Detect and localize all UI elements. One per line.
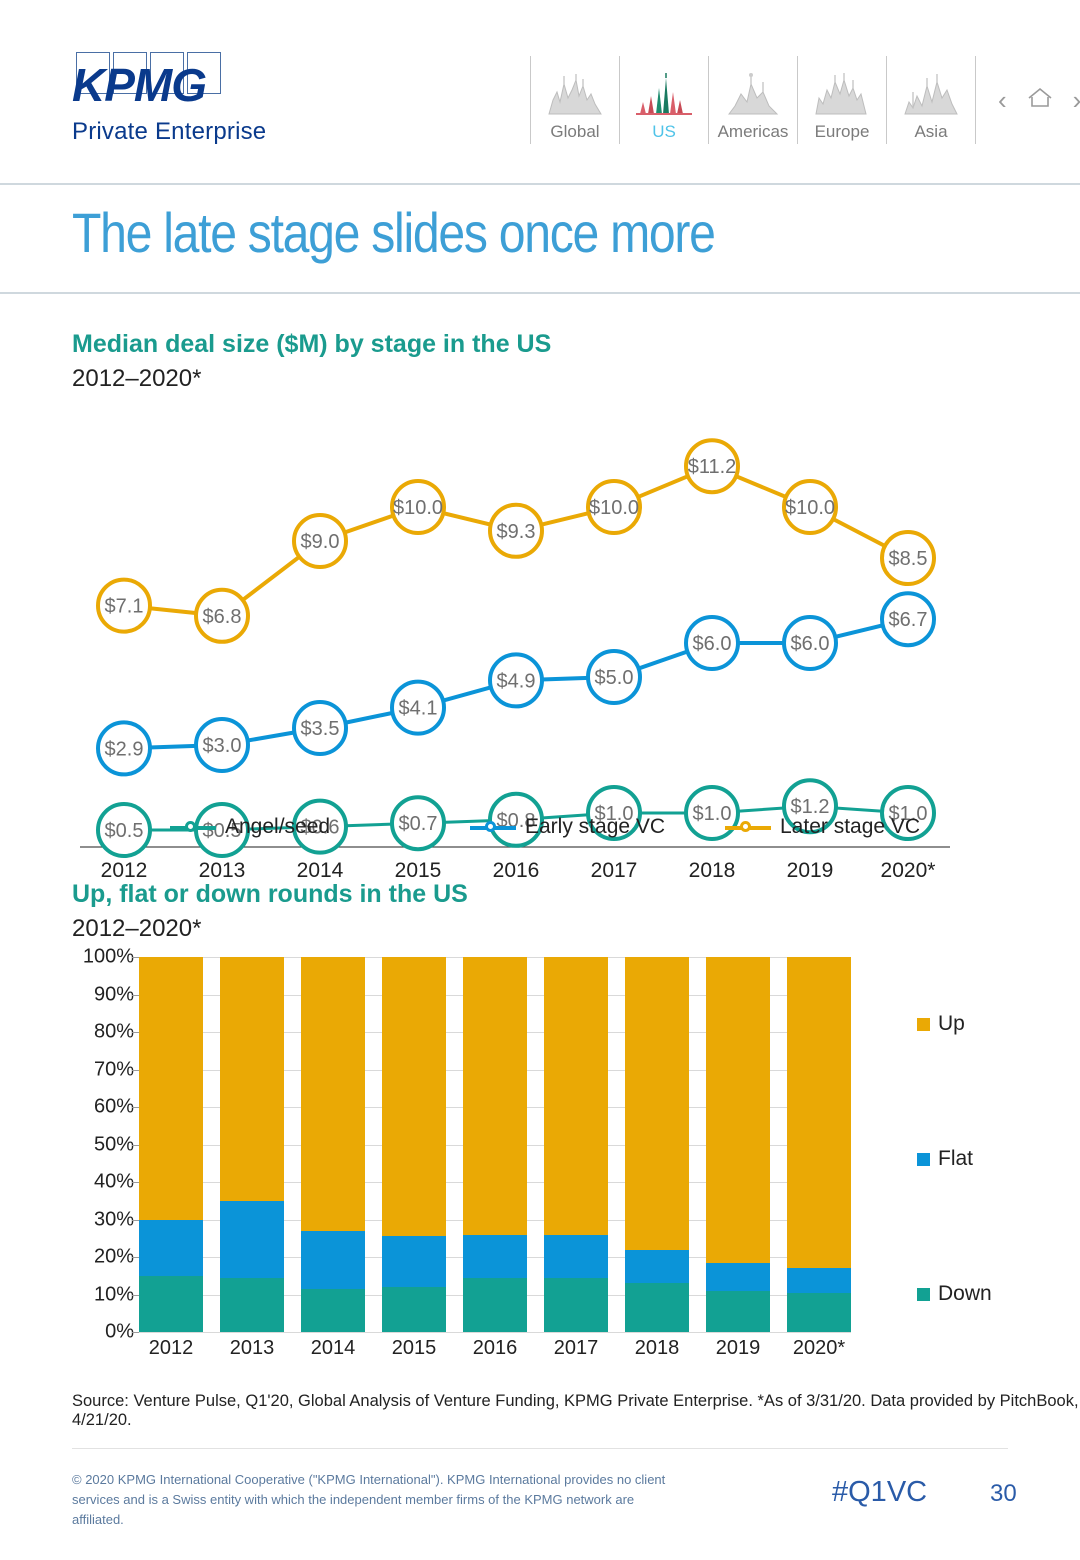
y-axis-tick-label: 10%	[94, 1283, 134, 1306]
nav-item-global[interactable]: Global	[531, 56, 619, 144]
legend-item-early-stage[interactable]: Early stage VC	[470, 815, 725, 839]
copyright-text: © 2020 KPMG International Cooperative ("…	[72, 1470, 672, 1530]
data-point-label: $10.0	[393, 497, 443, 519]
stacked-bar[interactable]	[544, 957, 608, 1332]
page-title: The late stage slides once more	[72, 200, 715, 265]
x-axis-tick-label: 2020*	[787, 1337, 851, 1360]
bar-segment-up	[544, 957, 608, 1235]
legend-item-up[interactable]: Up	[917, 1012, 965, 1036]
footer-divider	[72, 1448, 1008, 1449]
bar-segment-down	[544, 1278, 608, 1332]
hashtag-label: #Q1VC	[832, 1476, 927, 1509]
x-axis-tick-label: 2019	[706, 1337, 770, 1360]
x-axis-tick-label: 2013	[220, 1337, 284, 1360]
nav-item-us[interactable]: US	[620, 56, 708, 144]
y-axis-tick-label: 20%	[94, 1246, 134, 1269]
x-axis-tick-label: 2012	[101, 859, 148, 879]
legend-marker-later-stage	[725, 818, 771, 836]
stacked-bar[interactable]	[139, 957, 203, 1332]
y-axis-tick	[132, 1070, 139, 1071]
data-point-label: $9.0	[301, 531, 340, 553]
y-axis-tick-label: 50%	[94, 1133, 134, 1156]
bar-segment-flat	[301, 1231, 365, 1289]
y-axis-tick-label: 60%	[94, 1096, 134, 1119]
x-axis-tick-label: 2017	[544, 1337, 608, 1360]
data-point-label: $9.3	[497, 521, 536, 543]
legend-swatch-down	[917, 1288, 930, 1301]
x-axis-tick-label: 2016	[493, 859, 540, 879]
gridline	[139, 1332, 851, 1333]
legend-label-down: Down	[938, 1282, 992, 1306]
legend-item-flat[interactable]: Flat	[917, 1147, 973, 1171]
line-chart-section: Median deal size ($M) by stage in the US…	[72, 330, 1012, 879]
y-axis-tick-label: 90%	[94, 983, 134, 1006]
bar-segment-flat	[787, 1268, 851, 1292]
skyline-us-icon	[632, 66, 696, 116]
chevron-right-icon[interactable]: ›	[1073, 87, 1080, 113]
data-point-label: $6.7	[889, 609, 928, 631]
y-axis-tick-label: 100%	[83, 946, 134, 969]
nav-arrow-group: ‹ ›	[998, 56, 1080, 144]
nav-divider	[975, 56, 976, 144]
legend-item-down[interactable]: Down	[917, 1282, 992, 1306]
bar-segment-up	[139, 957, 203, 1220]
legend-item-later-stage[interactable]: Later stage VC	[725, 815, 920, 839]
page-header: KPMG Private Enterprise Global	[0, 0, 1080, 183]
x-axis-tick-label: 2014	[301, 1337, 365, 1360]
legend-item-angel-seed[interactable]: Angel/seed	[170, 815, 470, 839]
data-point-label: $6.8	[203, 606, 242, 628]
region-nav: Global US	[530, 56, 1080, 144]
bar-segment-flat	[220, 1201, 284, 1278]
y-axis-tick	[132, 995, 139, 996]
title-divider	[0, 292, 1080, 294]
data-point-label: $3.5	[301, 718, 340, 740]
bar-segment-down	[382, 1287, 446, 1332]
stacked-bar[interactable]	[463, 957, 527, 1332]
nav-item-americas[interactable]: Americas	[709, 56, 797, 144]
legend-label-early-stage: Early stage VC	[525, 815, 665, 839]
data-point-label: $5.0	[595, 667, 634, 689]
bar-segment-flat	[139, 1220, 203, 1276]
x-axis-tick-label: 2019	[787, 859, 834, 879]
y-axis-tick	[132, 1145, 139, 1146]
x-axis-tick-label: 2015	[395, 859, 442, 879]
x-axis-tick-label: 2018	[625, 1337, 689, 1360]
bar-chart-x-axis: 201220132014201520162017201820192020*	[139, 1337, 851, 1360]
bar-segment-down	[787, 1293, 851, 1332]
bar-chart-subtitle: 2012–2020*	[72, 915, 1012, 943]
legend-label-up: Up	[938, 1012, 965, 1036]
data-point-label: $7.1	[105, 596, 144, 618]
skyline-asia-icon	[899, 66, 963, 116]
stacked-bar[interactable]	[220, 957, 284, 1332]
legend-swatch-flat	[917, 1153, 930, 1166]
source-note: Source: Venture Pulse, Q1'20, Global Ana…	[72, 1392, 1080, 1430]
bar-chart-y-axis: 0%10%20%30%40%50%60%70%80%90%100%	[72, 957, 134, 1332]
y-axis-tick	[132, 1220, 139, 1221]
bar-segment-up	[706, 957, 770, 1263]
line-chart-title: Median deal size ($M) by stage in the US	[72, 330, 1012, 359]
home-icon[interactable]	[1025, 85, 1055, 115]
data-point-label: $0.5	[105, 820, 144, 842]
bar-segment-flat	[382, 1236, 446, 1287]
line-chart-plot: $0.5$0.5$0.6$0.7$0.8$1.0$1.0$1.2$1.0$2.9…	[72, 409, 1012, 879]
skyline-americas-icon	[721, 66, 785, 116]
x-axis-tick-label: 2012	[139, 1337, 203, 1360]
bar-segment-up	[382, 957, 446, 1236]
x-axis-tick-label: 2016	[463, 1337, 527, 1360]
data-point-label: $6.0	[693, 633, 732, 655]
nav-label-us: US	[652, 122, 676, 142]
bar-segment-down	[706, 1291, 770, 1332]
chevron-left-icon[interactable]: ‹	[998, 87, 1007, 113]
y-axis-tick	[132, 957, 139, 958]
data-point-label: $10.0	[785, 497, 835, 519]
y-axis-tick	[132, 1332, 139, 1333]
bar-segment-down	[220, 1278, 284, 1332]
y-axis-tick-label: 40%	[94, 1171, 134, 1194]
data-point-label: $8.5	[889, 548, 928, 570]
legend-swatch-up	[917, 1018, 930, 1031]
stacked-bar[interactable]	[301, 957, 365, 1332]
bar-chart-bars	[139, 957, 851, 1332]
nav-label-asia: Asia	[914, 122, 947, 142]
legend-marker-early-stage	[470, 818, 516, 836]
bar-segment-down	[139, 1276, 203, 1332]
bar-segment-flat	[706, 1263, 770, 1291]
bar-segment-up	[463, 957, 527, 1235]
bar-chart-legend: Up Flat Down	[917, 957, 1077, 1332]
y-axis-tick-label: 30%	[94, 1208, 134, 1231]
bar-chart-plot: 0%10%20%30%40%50%60%70%80%90%100% 201220…	[72, 957, 1012, 1377]
legend-label-flat: Flat	[938, 1147, 973, 1171]
x-axis-tick-label: 2014	[297, 859, 344, 879]
legend-label-later-stage: Later stage VC	[780, 815, 920, 839]
x-axis-tick-label: 2013	[199, 859, 246, 879]
skyline-europe-icon	[810, 66, 874, 116]
stacked-bar[interactable]	[787, 957, 851, 1332]
bar-segment-flat	[463, 1235, 527, 1278]
line-chart-legend: Angel/seed Early stage VC Later stage VC	[170, 815, 1010, 839]
data-point-label: $11.2	[688, 456, 737, 478]
stacked-bar[interactable]	[706, 957, 770, 1332]
x-axis-tick-label: 2020*	[881, 859, 936, 879]
y-axis-tick	[132, 1295, 139, 1296]
y-axis-tick	[132, 1032, 139, 1033]
bar-segment-down	[301, 1289, 365, 1332]
bar-segment-down	[625, 1283, 689, 1332]
nav-label-global: Global	[550, 122, 599, 142]
bar-segment-up	[220, 957, 284, 1201]
y-axis-tick-label: 80%	[94, 1021, 134, 1044]
bar-chart-title: Up, flat or down rounds in the US	[72, 880, 1012, 909]
y-axis-tick-label: 70%	[94, 1058, 134, 1081]
bar-chart-section: Up, flat or down rounds in the US 2012–2…	[72, 880, 1012, 1377]
data-point-label: $3.0	[203, 735, 242, 757]
data-point-label: $4.1	[399, 698, 438, 720]
nav-label-americas: Americas	[718, 122, 789, 142]
bar-segment-down	[463, 1278, 527, 1332]
line-chart-svg: $0.5$0.5$0.6$0.7$0.8$1.0$1.0$1.2$1.0$2.9…	[72, 409, 1012, 879]
skyline-global-icon	[543, 66, 607, 116]
nav-item-asia[interactable]: Asia	[887, 56, 975, 144]
bar-segment-up	[625, 957, 689, 1250]
bar-segment-up	[301, 957, 365, 1231]
kpmg-sublabel: Private Enterprise	[72, 118, 302, 146]
stacked-bar[interactable]	[382, 957, 446, 1332]
data-point-label: $4.9	[497, 670, 536, 692]
nav-item-europe[interactable]: Europe	[798, 56, 886, 144]
x-axis-tick-label: 2017	[591, 859, 638, 879]
data-point-label: $6.0	[791, 633, 830, 655]
page-number: 30	[990, 1480, 1017, 1508]
stacked-bar[interactable]	[625, 957, 689, 1332]
kpmg-wordmark: KPMG	[72, 58, 302, 112]
y-axis-tick	[132, 1107, 139, 1108]
nav-label-europe: Europe	[815, 122, 870, 142]
x-axis-tick-label: 2015	[382, 1337, 446, 1360]
line-chart-subtitle: 2012–2020*	[72, 365, 1012, 393]
legend-marker-angel-seed	[170, 818, 216, 836]
y-axis-tick	[132, 1182, 139, 1183]
bar-segment-flat	[544, 1235, 608, 1278]
header-divider	[0, 183, 1080, 185]
y-axis-tick-label: 0%	[105, 1321, 134, 1344]
x-axis-tick-label: 2018	[689, 859, 736, 879]
y-axis-tick	[132, 1257, 139, 1258]
kpmg-logo: KPMG Private Enterprise	[72, 52, 302, 146]
data-point-label: $10.0	[589, 497, 639, 519]
bar-segment-flat	[625, 1250, 689, 1284]
bar-segment-up	[787, 957, 851, 1268]
legend-label-angel-seed: Angel/seed	[225, 815, 330, 839]
data-point-label: $2.9	[105, 738, 144, 760]
